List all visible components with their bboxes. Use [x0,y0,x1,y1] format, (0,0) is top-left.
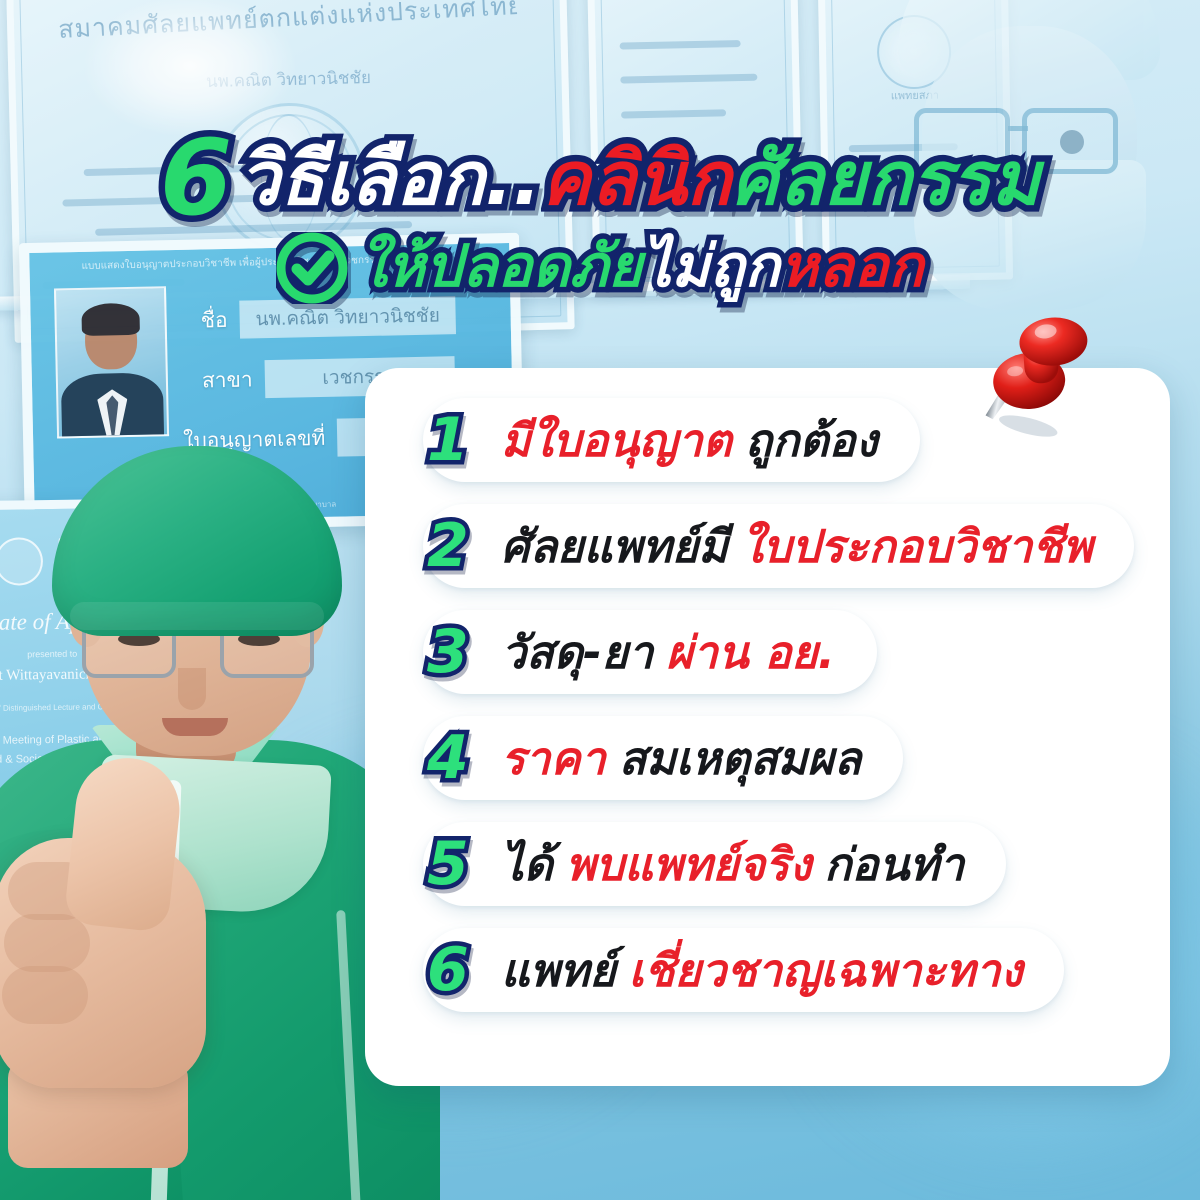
certificate-secondary [586,0,803,292]
checklist-rows: 1 มีใบอนุญาตถูกต้อง 2 ศัลยแพทย์มีใบประกอ… [365,368,1170,1034]
list-item-part: เชี่ยวชาญเฉพาะทาง [629,944,1023,997]
list-item-number: 1 [427,410,469,470]
list-item-text: วัสดุ-ยาผ่าน อย. [501,630,835,675]
list-item[interactable]: 4 ราคาสมเหตุสมผล [365,716,1170,800]
list-item-part: สมเหตุสมผล [619,732,861,785]
list-item-pill[interactable]: 2 ศัลยแพทย์มีใบประกอบวิชาชีพ [423,504,1134,588]
list-item-part: ผ่าน อย. [666,626,835,679]
list-item-part: พบแพทย์จริง [566,838,811,891]
list-item-text: มีใบอนุญาตถูกต้อง [501,418,878,463]
list-item-part: ถูกต้อง [745,414,878,467]
list-item-pill[interactable]: 6 แพทย์เชี่ยวชาญเฉพาะทาง [423,928,1064,1012]
list-item-part: ก่อนทำ [824,838,964,891]
list-item-pill[interactable]: 1 มีใบอนุญาตถูกต้อง [423,398,920,482]
list-item-pill[interactable]: 3 วัสดุ-ยาผ่าน อย. [423,610,877,694]
certificate-title: สมาคมศัลยแพทย์ตกแต่งแห่งประเทศไทย [57,0,517,50]
globe-emblem-icon [213,102,367,256]
list-item-part: ราคา [501,732,606,785]
certificate-name: นพ.คณิต วิทยาวนิชชัย [124,62,452,97]
list-item[interactable]: 2 ศัลยแพทย์มีใบประกอบวิชาชีพ [365,504,1170,588]
list-item-number: 3 [427,622,469,682]
list-item-text: ได้พบแพทย์จริงก่อนทำ [501,842,964,887]
license-header: แบบแสดงใบอนุญาตประกอบวิชาชีพ เพื่อผู้ประ… [81,253,381,274]
list-item[interactable]: 5 ได้พบแพทย์จริงก่อนทำ [365,822,1170,906]
poster-root: สมาคมศัลยแพทย์ตกแต่งแห่งประเทศไทย นพ.คณิ… [0,0,1200,1200]
thumbs-up-hand-icon [0,758,268,1088]
list-item-number: 4 [427,728,469,788]
list-item-number: 2 [427,516,469,576]
checklist-card: 1 มีใบอนุญาตถูกต้อง 2 ศัลยแพทย์มีใบประกอ… [365,368,1170,1086]
list-item-text: ราคาสมเหตุสมผล [501,736,861,781]
list-item-part: แพทย์ [501,944,616,997]
list-item-number: 5 [427,834,469,894]
license-row-name: ชื่อ นพ.คณิต วิทยาวนิชชัย [200,296,456,339]
list-item[interactable]: 6 แพทย์เชี่ยวชาญเฉพาะทาง [365,928,1170,1012]
surgical-cap [52,446,342,636]
list-item[interactable]: 3 วัสดุ-ยาผ่าน อย. [365,610,1170,694]
list-item-text: ศัลยแพทย์มีใบประกอบวิชาชีพ [501,524,1092,569]
list-item-part: วัสดุ-ยา [501,626,653,679]
list-item-part: ใบประกอบวิชาชีพ [741,520,1093,573]
list-item-text: แพทย์เชี่ยวชาญเฉพาะทาง [501,948,1022,993]
license-label-name: ชื่อ [200,303,228,337]
list-item-part: ได้ [501,838,553,891]
license-value-name: นพ.คณิต วิทยาวนิชชัย [239,296,456,339]
list-item-number: 6 [427,940,469,1000]
list-item-part: มีใบอนุญาต [501,414,732,467]
list-item-pill[interactable]: 4 ราคาสมเหตุสมผล [423,716,903,800]
list-item-pill[interactable]: 5 ได้พบแพทย์จริงก่อนทำ [423,822,1006,906]
list-item-part: ศัลยแพทย์มี [501,520,728,573]
